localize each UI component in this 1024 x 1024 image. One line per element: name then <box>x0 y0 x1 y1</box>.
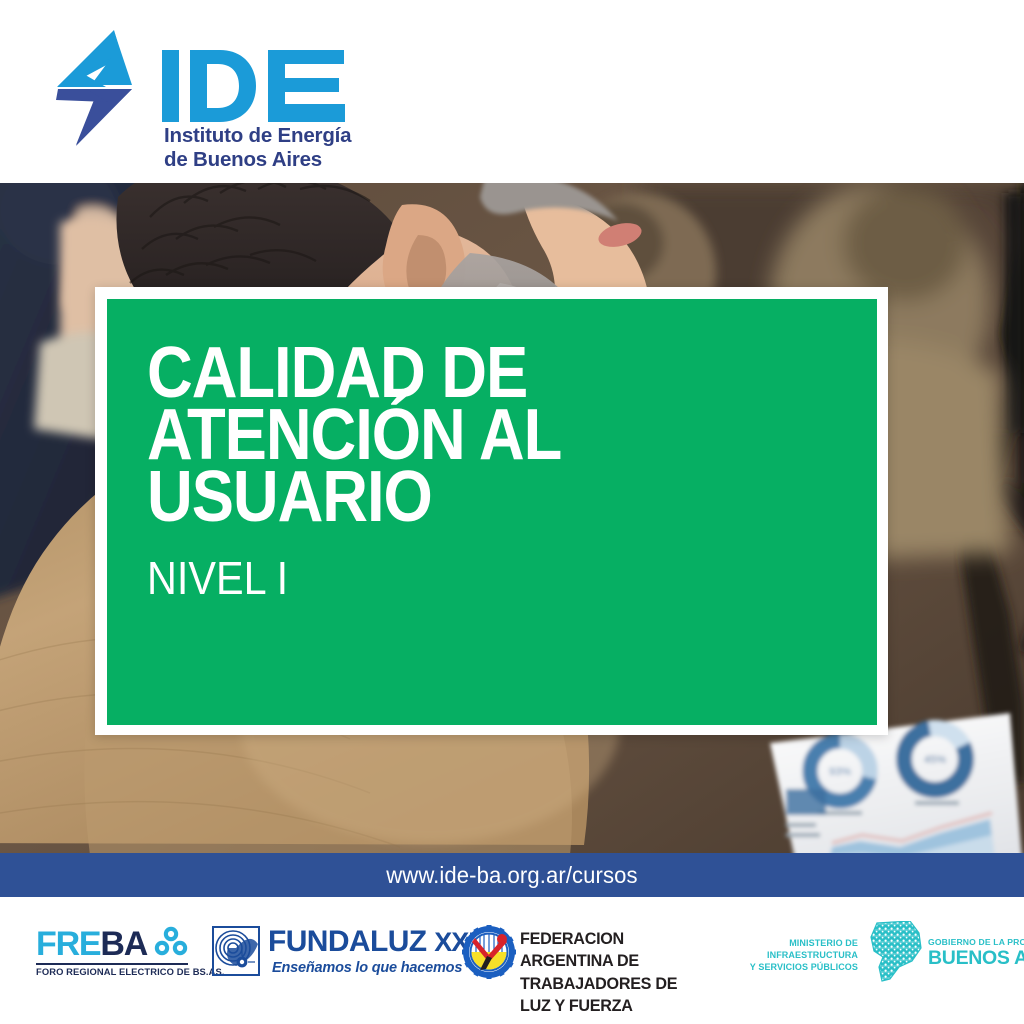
freba-trefoil-icon <box>154 925 188 957</box>
course-title: CALIDAD DE ATENCIÓN AL USUARIO <box>147 343 763 529</box>
title-card-text: CALIDAD DE ATENCIÓN AL USUARIO NIVEL I <box>147 343 847 601</box>
logo-gobierno-pba: MINISTERIO DE INFRAESTRUCTURA Y SERVICIO… <box>712 921 1008 983</box>
buenos-aires-province-icon <box>866 921 924 983</box>
logo-fundaluz-xxi: FUNDALUZ XXI Enseñamos lo que hacemos <box>212 924 432 980</box>
freba-subtitle: FORO REGIONAL ELECTRICO DE BS.AS. <box>36 967 191 977</box>
fundaluz-tagline: Enseñamos lo que hacemos <box>272 960 462 976</box>
ide-subtitle: Instituto de Energía de Buenos Aires <box>164 124 394 172</box>
lightning-bolt-icon <box>56 30 134 146</box>
footer-logo-strip: FREBA FORO REGIONAL ELECTRICO DE BS.AS. <box>0 897 1024 1024</box>
title-card: CALIDAD DE ATENCIÓN AL USUARIO NIVEL I <box>107 299 877 725</box>
svg-text:45%: 45% <box>924 754 946 766</box>
pba-word-big: BUENOS AIRES <box>928 948 1024 969</box>
ministerio-wordmark: MINISTERIO DE INFRAESTRUCTURA Y SERVICIO… <box>712 937 858 973</box>
fundaluz-word: FUNDALUZ <box>268 925 427 958</box>
freba-word-part-2: BA <box>100 925 147 963</box>
ide-logo: Instituto de Energía de Buenos Aires <box>56 28 346 158</box>
course-poster: Instituto de Energía de Buenos Aires <box>0 0 1024 1024</box>
fundaluz-emblem-icon <box>212 926 260 976</box>
fatlyf-gear-icon <box>462 925 516 979</box>
header: Instituto de Energía de Buenos Aires <box>0 0 1024 183</box>
freba-word-part-1: FRE <box>36 925 100 963</box>
pba-wordmark: GOBIERNO DE LA PROVINCIA DE BUENOS AIRES <box>928 937 1024 969</box>
logo-fatlyf: FEDERACION ARGENTINA DE TRABAJADORES DE … <box>462 923 707 981</box>
website-band[interactable]: www.ide-ba.org.ar/cursos <box>0 853 1024 897</box>
svg-text:93%: 93% <box>829 766 851 778</box>
ide-wordmark <box>160 50 350 122</box>
freba-divider <box>36 963 188 965</box>
fatlyf-wordmark: FEDERACION ARGENTINA DE TRABAJADORES DE … <box>520 928 698 1018</box>
fundaluz-wordmark: FUNDALUZ XXI <box>268 926 475 958</box>
course-level: NIVEL I <box>147 555 777 601</box>
logo-freba: FREBA FORO REGIONAL ELECTRICO DE BS.AS. <box>36 927 188 977</box>
website-url[interactable]: www.ide-ba.org.ar/cursos <box>386 862 637 889</box>
